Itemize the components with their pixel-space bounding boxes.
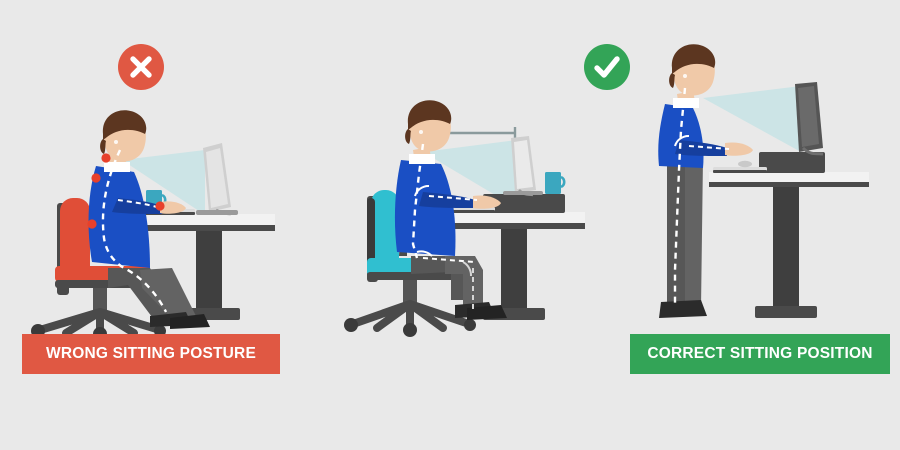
- mouse: [738, 161, 752, 167]
- marker-neck: [101, 153, 110, 162]
- panel-correct-sitting: CORRECT SITTING POSITION: [305, 0, 600, 450]
- shoe: [659, 300, 707, 318]
- standing-desk: [709, 172, 869, 318]
- mug: [545, 172, 564, 194]
- infographic-canvas: WRONG SITTING POSTURE: [0, 0, 900, 450]
- ear: [114, 140, 118, 144]
- desk-column: [773, 187, 799, 315]
- banner-wrong-sitting: WRONG SITTING POSTURE: [22, 334, 280, 374]
- banner-label: WRONG SITTING POSTURE: [46, 345, 256, 363]
- marker-shoulder: [91, 173, 100, 182]
- scene-correct-standing: [605, 0, 900, 380]
- torso: [395, 160, 456, 256]
- ear: [419, 130, 423, 134]
- keyboard: [713, 167, 767, 173]
- ear: [683, 74, 687, 78]
- scene-correct-sitting: [305, 0, 600, 380]
- marker-wrist: [155, 201, 164, 210]
- scene-wrong-sitting: [0, 0, 300, 380]
- collar: [673, 98, 699, 108]
- panel-wrong-sitting: WRONG SITTING POSTURE: [0, 0, 300, 450]
- gaze-cone: [703, 86, 801, 152]
- panel-correct-standing: CORRECT STANDING POSITION: [605, 0, 900, 450]
- marker-back: [87, 219, 96, 228]
- collar: [104, 162, 130, 172]
- monitor: [795, 82, 823, 154]
